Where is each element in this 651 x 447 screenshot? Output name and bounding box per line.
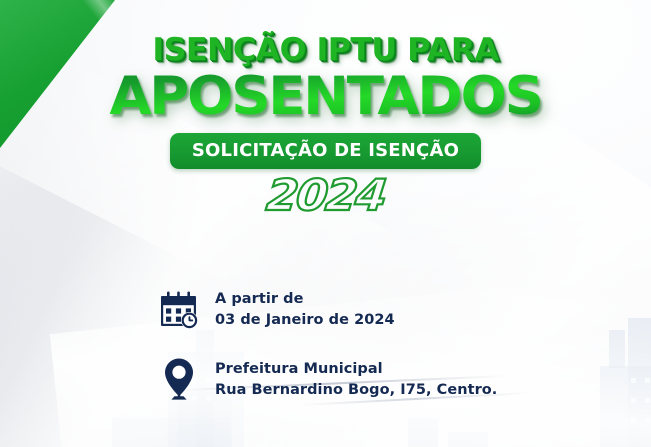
info-text-location: Prefeitura Municipal Rua Bernardino Bogo… <box>215 359 497 400</box>
year-label: 2024 <box>264 175 387 218</box>
building-window <box>631 378 636 383</box>
map-pin-icon <box>157 358 201 402</box>
info-text-date: A partir de 03 de Janeiro de 2024 <box>215 289 395 330</box>
info-list: A partir de 03 de Janeiro de 2024 Prefei… <box>157 288 497 402</box>
building-silhouette <box>448 432 488 447</box>
building-window <box>631 418 636 423</box>
info-row-location: Prefeitura Municipal Rua Bernardino Bogo… <box>157 358 497 402</box>
building-silhouette <box>408 418 438 447</box>
poster-canvas: ISENÇÃO IPTU PARA APOSENTADOS SOLICITAÇÃ… <box>0 0 651 447</box>
info-date-line-1: A partir de <box>215 289 395 310</box>
building-silhouette <box>628 318 651 447</box>
info-location-line-2: Rua Bernardino Bogo, I75, Centro. <box>215 380 497 401</box>
info-location-line-1: Prefeitura Municipal <box>215 359 497 380</box>
building-silhouette <box>600 366 651 447</box>
headline-block: ISENÇÃO IPTU PARA APOSENTADOS <box>0 34 651 124</box>
headline-line-2: APOSENTADOS <box>0 70 651 124</box>
building-silhouette <box>112 418 230 447</box>
info-row-date: A partir de 03 de Janeiro de 2024 <box>157 288 497 332</box>
building-window <box>631 398 636 403</box>
building-window <box>645 418 650 423</box>
headline-line-1: ISENÇÃO IPTU PARA <box>0 34 651 66</box>
building-window <box>645 398 650 403</box>
year-wrapper: 2024 <box>0 175 651 218</box>
info-date-line-2: 03 de Janeiro de 2024 <box>215 310 395 331</box>
banner-wrapper: SOLICITAÇÃO DE ISENÇÃO <box>0 133 651 169</box>
building-window <box>645 378 650 383</box>
solicitation-banner: SOLICITAÇÃO DE ISENÇÃO <box>170 133 481 169</box>
building-silhouette <box>609 330 625 368</box>
calendar-clock-icon <box>157 288 201 332</box>
